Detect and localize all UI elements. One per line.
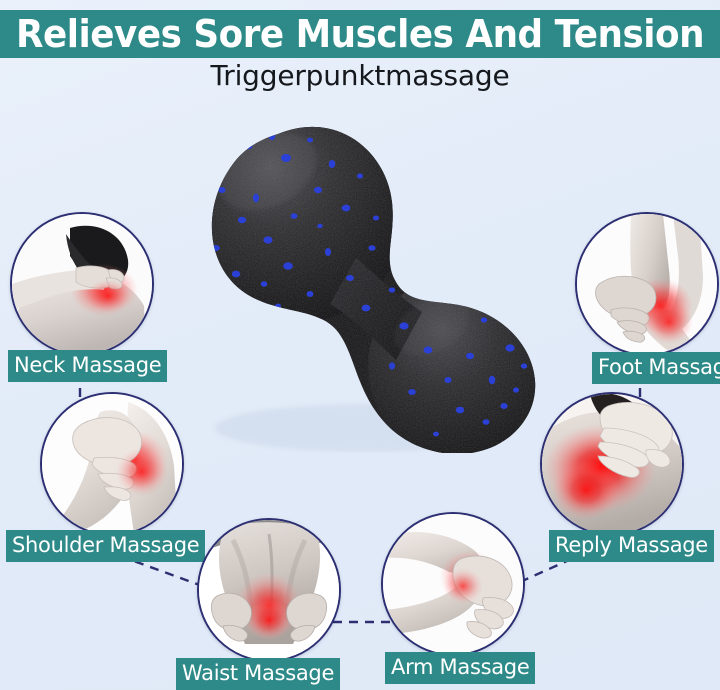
callout-label-foot: Foot Massage: [592, 352, 720, 384]
reply-back-massage-photo[interactable]: [540, 392, 684, 536]
neck-massage-photo[interactable]: [10, 212, 154, 356]
callout-label-waist: Waist Massage: [176, 658, 340, 690]
callout-label-shoulder: Shoulder Massage: [6, 530, 205, 562]
product-image: [160, 98, 570, 453]
arm-massage-photo[interactable]: [381, 512, 525, 656]
shoulder-massage-photo[interactable]: [40, 392, 184, 536]
foot-massage-photo[interactable]: [575, 212, 719, 356]
callout-label-neck: Neck Massage: [8, 350, 167, 382]
callout-label-arm: Arm Massage: [385, 652, 535, 684]
callout-label-reply: Reply Massage: [549, 530, 714, 562]
infographic-canvas: Relieves Sore Muscles And Tension Trigge…: [0, 0, 720, 690]
waist-massage-photo[interactable]: [197, 518, 341, 662]
